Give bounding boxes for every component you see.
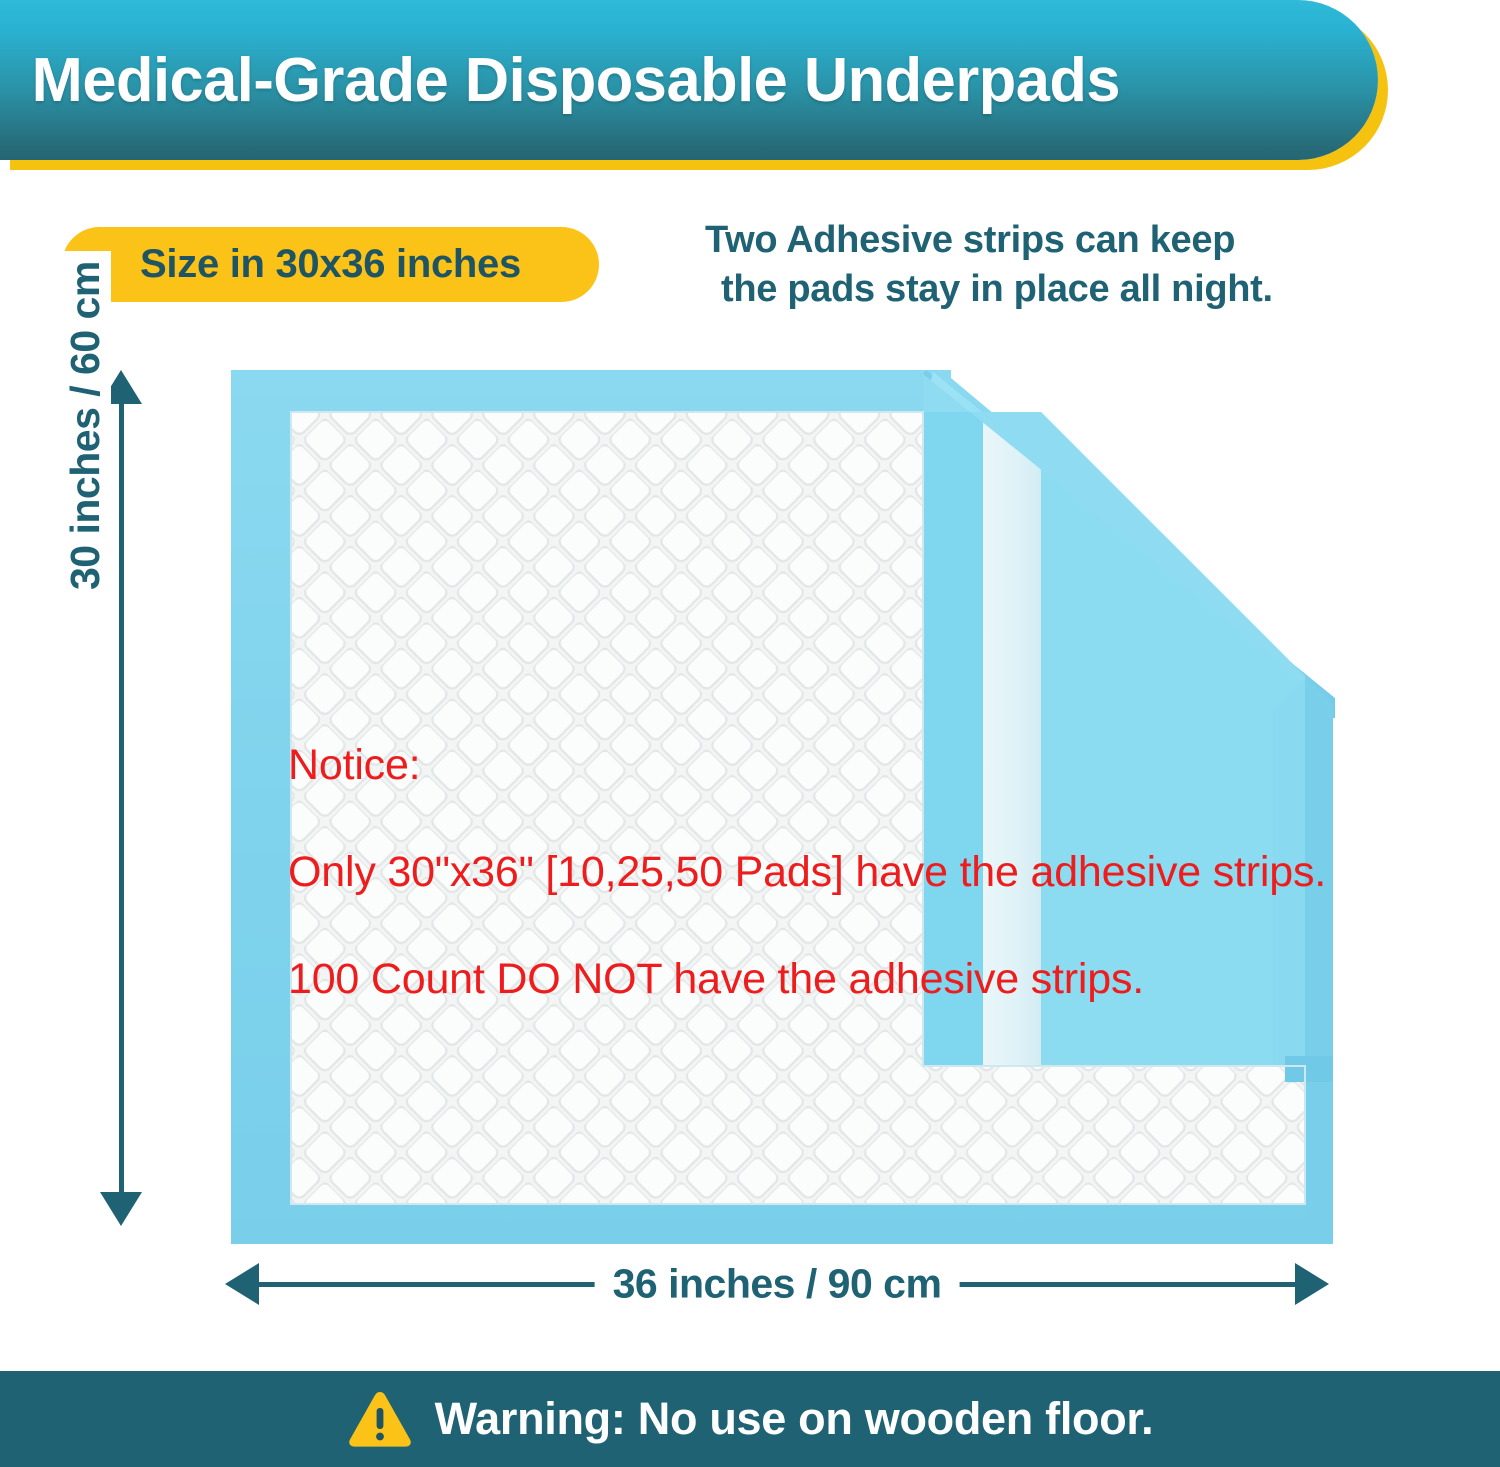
size-badge: Size in 30x36 inches	[62, 227, 599, 302]
vertical-arrow-shaft	[119, 398, 124, 1198]
arrow-right-head-icon	[1295, 1263, 1329, 1305]
adhesive-strips-note: Two Adhesive strips can keep the pads st…	[705, 216, 1365, 313]
arrow-down-head-icon	[100, 1192, 142, 1226]
notice-block: Notice: Only 30"x36" [10,25,50 Pads] hav…	[288, 744, 1478, 1001]
size-badge-label: Size in 30x36 inches	[140, 242, 521, 287]
page-title: Medical-Grade Disposable Underpads	[0, 45, 1120, 116]
notice-line-2: 100 Count DO NOT have the adhesive strip…	[288, 958, 1478, 1001]
fold-tip	[1285, 1056, 1333, 1082]
notice-line-1: Only 30"x36" [10,25,50 Pads] have the ad…	[288, 851, 1478, 894]
notice-title: Notice:	[288, 744, 1478, 787]
horizontal-dimension-arrow: 36 inches / 90 cm	[225, 1263, 1329, 1305]
adhesive-note-line-1: Two Adhesive strips can keep	[705, 216, 1365, 265]
warning-text: Warning: No use on wooden floor.	[435, 1393, 1154, 1445]
pad-quilted-surface-lower	[291, 1066, 1305, 1204]
warning-bar: Warning: No use on wooden floor.	[0, 1371, 1500, 1467]
header-banner: Medical-Grade Disposable Underpads	[0, 0, 1378, 160]
warning-triangle-icon	[347, 1389, 413, 1449]
product-infographic: Medical-Grade Disposable Underpads Size …	[0, 0, 1500, 1467]
vertical-dimension-label: 30 inches / 60 cm	[60, 251, 111, 600]
horizontal-dimension-label: 36 inches / 90 cm	[595, 1261, 960, 1308]
adhesive-note-line-2: the pads stay in place all night.	[705, 265, 1365, 314]
